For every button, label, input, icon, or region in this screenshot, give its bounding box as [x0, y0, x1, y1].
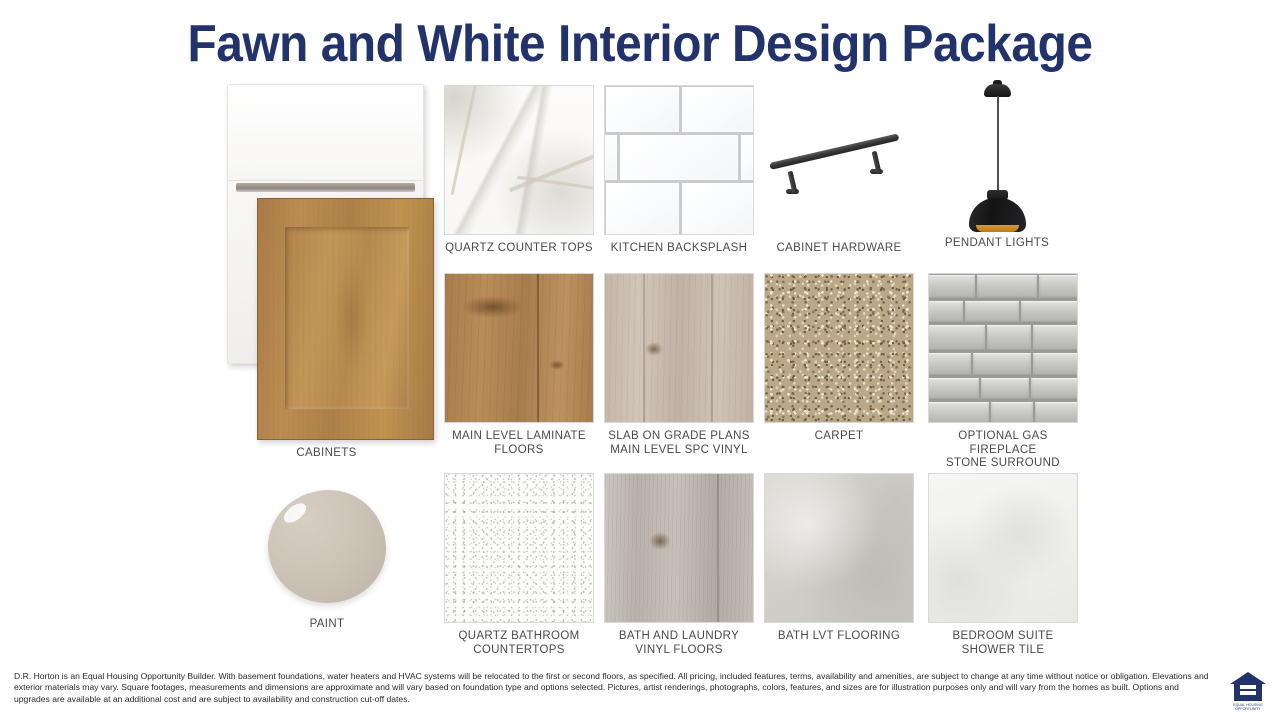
swatch-bath-lvt-flooring[interactable]: BATH LVT FLOORING	[764, 473, 914, 644]
wood-knot	[645, 342, 663, 356]
backsplash-label: KITCHEN BACKSPLASH	[604, 242, 754, 256]
paint-label: PAINT	[268, 618, 386, 632]
tile	[741, 135, 754, 180]
laminate-floor-image	[444, 273, 594, 423]
tile	[620, 135, 738, 180]
bath-lvt-image	[764, 473, 914, 623]
swatch-bath-laundry-vinyl-floors[interactable]: BATH AND LAUNDRY VINYL FLOORS	[604, 473, 754, 657]
tile	[606, 183, 679, 235]
bath-laundry-vinyl-label: BATH AND LAUNDRY VINYL FLOORS	[604, 630, 754, 657]
cabinets-image	[219, 78, 434, 440]
pendant-inner-glow	[976, 225, 1019, 232]
backsplash-image	[604, 85, 754, 235]
wood-grain	[335, 260, 367, 373]
stone-brick	[1033, 325, 1078, 351]
wood-knot	[649, 532, 671, 550]
swatch-kitchen-backsplash[interactable]: KITCHEN BACKSPLASH	[604, 85, 754, 256]
quartz-bathroom-label: QUARTZ BATHROOM COUNTERTOPS	[444, 630, 594, 657]
page-title: Fawn and White Interior Design Package	[51, 14, 1229, 74]
swatch-fireplace-stone-surround[interactable]: OPTIONAL GAS FIREPLACE STONE SURROUND	[928, 273, 1078, 471]
carpet-label: CARPET	[764, 430, 914, 444]
swatch-slab-on-grade-spc-vinyl[interactable]: SLAB ON GRADE PLANS MAIN LEVEL SPC VINYL	[604, 273, 754, 457]
wood-door-panel	[285, 227, 409, 409]
stone-brick	[1021, 301, 1078, 323]
stone-brick	[928, 402, 989, 423]
stone-brick	[981, 378, 1029, 400]
shower-tile-label: BEDROOM SUITE SHOWER TILE	[928, 630, 1078, 657]
plank-seam	[537, 274, 539, 422]
stone-brick	[1039, 275, 1078, 299]
stone-brick	[987, 325, 1031, 351]
eho-label: EQUAL HOUSING OPPORTUNITY	[1228, 703, 1268, 711]
wood-knot	[549, 360, 565, 370]
eho-house-icon	[1228, 670, 1268, 704]
paint-blob-image	[268, 490, 386, 603]
bath-lvt-label: BATH LVT FLOORING	[764, 630, 914, 644]
swatch-cabinets[interactable]: CABINETS	[219, 78, 434, 461]
cabinet-hardware-label: CABINET HARDWARE	[764, 242, 914, 256]
stone-brick	[965, 301, 1019, 323]
tile	[604, 135, 617, 180]
pendant-light-image	[922, 80, 1072, 230]
cabinets-label: CABINETS	[219, 447, 434, 461]
stone-brick	[991, 402, 1033, 423]
legal-disclaimer: D.R. Horton is an Equal Housing Opportun…	[14, 671, 1210, 705]
spc-vinyl-label: SLAB ON GRADE PLANS MAIN LEVEL SPC VINYL	[604, 430, 754, 457]
stone-brick	[973, 353, 1031, 376]
pull-bar	[769, 133, 899, 170]
tile	[682, 183, 754, 235]
vein-1	[451, 85, 479, 195]
swatch-pendant-lights[interactable]: PENDANT LIGHTS	[922, 80, 1072, 251]
stone-brick	[1033, 353, 1078, 376]
swatch-carpet[interactable]: CARPET	[764, 273, 914, 444]
laminate-floor-label: MAIN LEVEL LAMINATE FLOORS	[444, 430, 594, 457]
bath-laundry-vinyl-image	[604, 473, 754, 623]
quartz-counter-label: QUARTZ COUNTER TOPS	[444, 242, 594, 256]
plank-seam	[711, 274, 713, 422]
swatch-main-level-laminate[interactable]: MAIN LEVEL LAMINATE FLOORS	[444, 273, 594, 457]
equal-housing-opportunity-logo: EQUAL HOUSING OPPORTUNITY	[1228, 670, 1268, 712]
wood-knot	[461, 296, 523, 318]
swatch-paint[interactable]: PAINT	[268, 490, 386, 632]
quartz-bathroom-image	[444, 473, 594, 623]
swatch-quartz-bathroom-countertops[interactable]: QUARTZ BATHROOM COUNTERTOPS	[444, 473, 594, 657]
stone-brick	[928, 353, 971, 376]
stone-brick	[928, 325, 985, 351]
swatch-cabinet-hardware[interactable]: CABINET HARDWARE	[764, 85, 914, 256]
quartz-counter-image	[444, 85, 594, 235]
stone-brick	[928, 275, 975, 299]
stone-brick	[977, 275, 1037, 299]
swatch-bedroom-suite-shower-tile[interactable]: BEDROOM SUITE SHOWER TILE	[928, 473, 1078, 657]
plank-seam	[717, 474, 719, 622]
stone-brick	[928, 301, 963, 323]
wood-cabinet-door	[257, 198, 434, 440]
stone-brick	[1035, 402, 1078, 423]
cabinet-hardware-image	[764, 85, 914, 235]
pendant-cord	[997, 96, 999, 194]
tile	[606, 87, 679, 132]
swatch-quartz-counter-tops[interactable]: QUARTZ COUNTER TOPS	[444, 85, 594, 256]
carpet-image	[764, 273, 914, 423]
stone-surround-image	[928, 273, 1078, 423]
tile	[682, 87, 754, 132]
swatch-board: CABINETS QUARTZ COUNTER TOPS	[0, 78, 1280, 663]
stone-brick	[1031, 378, 1078, 400]
stone-brick	[928, 378, 979, 400]
stone-surround-label: OPTIONAL GAS FIREPLACE STONE SURROUND	[928, 430, 1078, 471]
spc-vinyl-image	[604, 273, 754, 423]
pendant-lights-label: PENDANT LIGHTS	[922, 237, 1072, 251]
shower-tile-image	[928, 473, 1078, 623]
design-package-board: Fawn and White Interior Design Package C…	[0, 0, 1280, 720]
